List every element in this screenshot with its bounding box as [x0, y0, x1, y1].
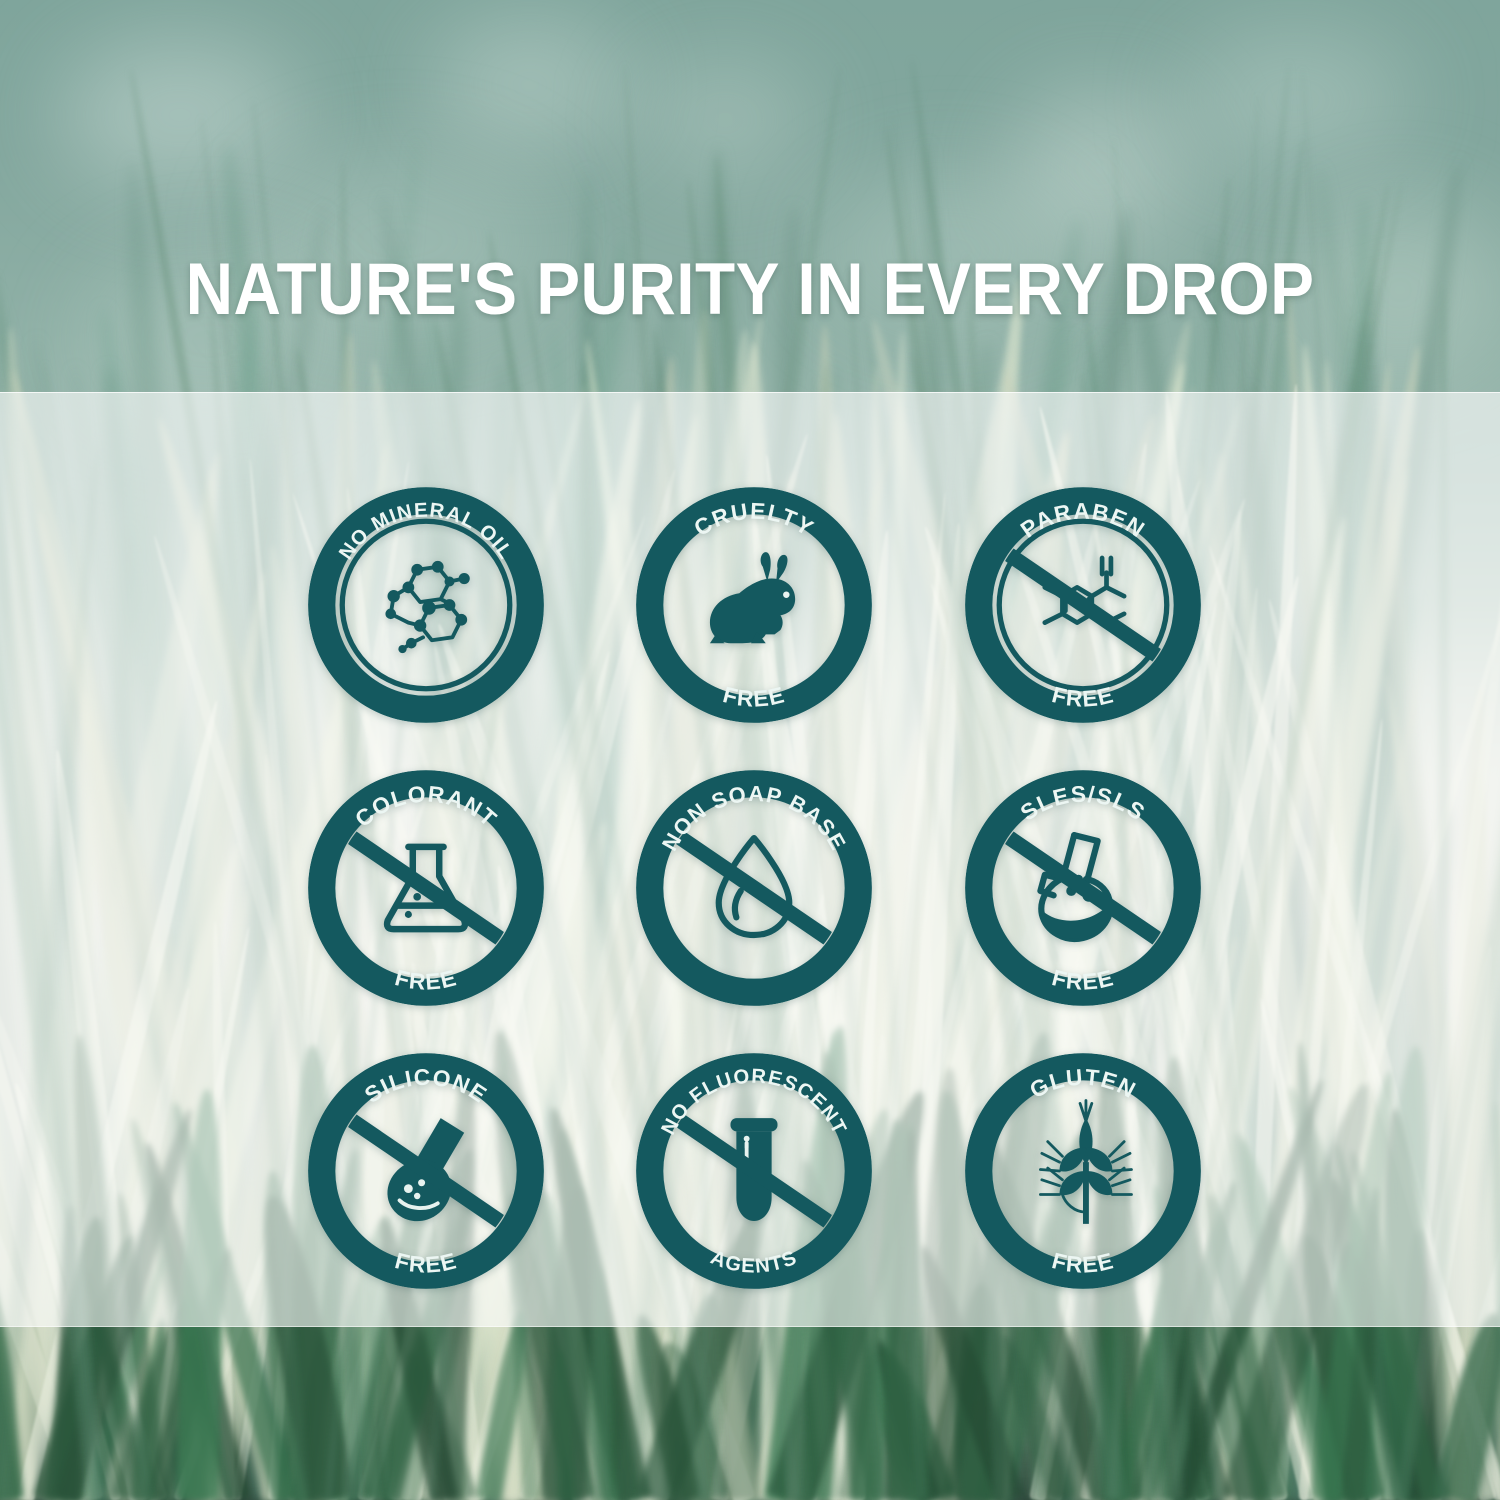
badge-cruelty-free: CRUELTY FREE — [632, 483, 876, 727]
badge-gluten-free: GLUTEN FREE — [961, 1049, 1205, 1293]
badge-graphic-gluten-free: GLUTEN FREE — [961, 1049, 1205, 1293]
badge-graphic-sles-sls-free: SLES/SLS FREE — [961, 766, 1205, 1010]
badge-silicone-free: SILICONE FREE — [304, 1049, 548, 1293]
badge-graphic-no-mineral-oil: NO MINERAL OIL — [304, 483, 548, 727]
certification-badge-grid: NO MINERAL OIL — [262, 463, 1247, 1313]
badge-no-fluorescent-agents: NO FLUORESCENT AGENTS — [632, 1049, 876, 1293]
badge-colorant-free: COLORANT FREE — [304, 766, 548, 1010]
badge-graphic-silicone-free: SILICONE FREE — [304, 1049, 548, 1293]
badge-no-mineral-oil: NO MINERAL OIL — [304, 483, 548, 727]
page-title: NATURE'S PURITY IN EVERY DROP — [75, 248, 1425, 331]
badge-graphic-colorant-free: COLORANT FREE — [304, 766, 548, 1010]
badge-graphic-no-fluorescent-agents: NO FLUORESCENT AGENTS — [632, 1049, 876, 1293]
badge-paraben-free: PARABEN FREE — [961, 483, 1205, 727]
badge-graphic-cruelty-free: CRUELTY FREE — [632, 483, 876, 727]
badge-graphic-non-soap-base: NON SOAP BASE — [632, 766, 876, 1010]
badge-non-soap-base: NON SOAP BASE — [632, 766, 876, 1010]
badge-graphic-paraben-free: PARABEN FREE — [961, 483, 1205, 727]
badge-sles-sls-free: SLES/SLS FREE — [961, 766, 1205, 1010]
